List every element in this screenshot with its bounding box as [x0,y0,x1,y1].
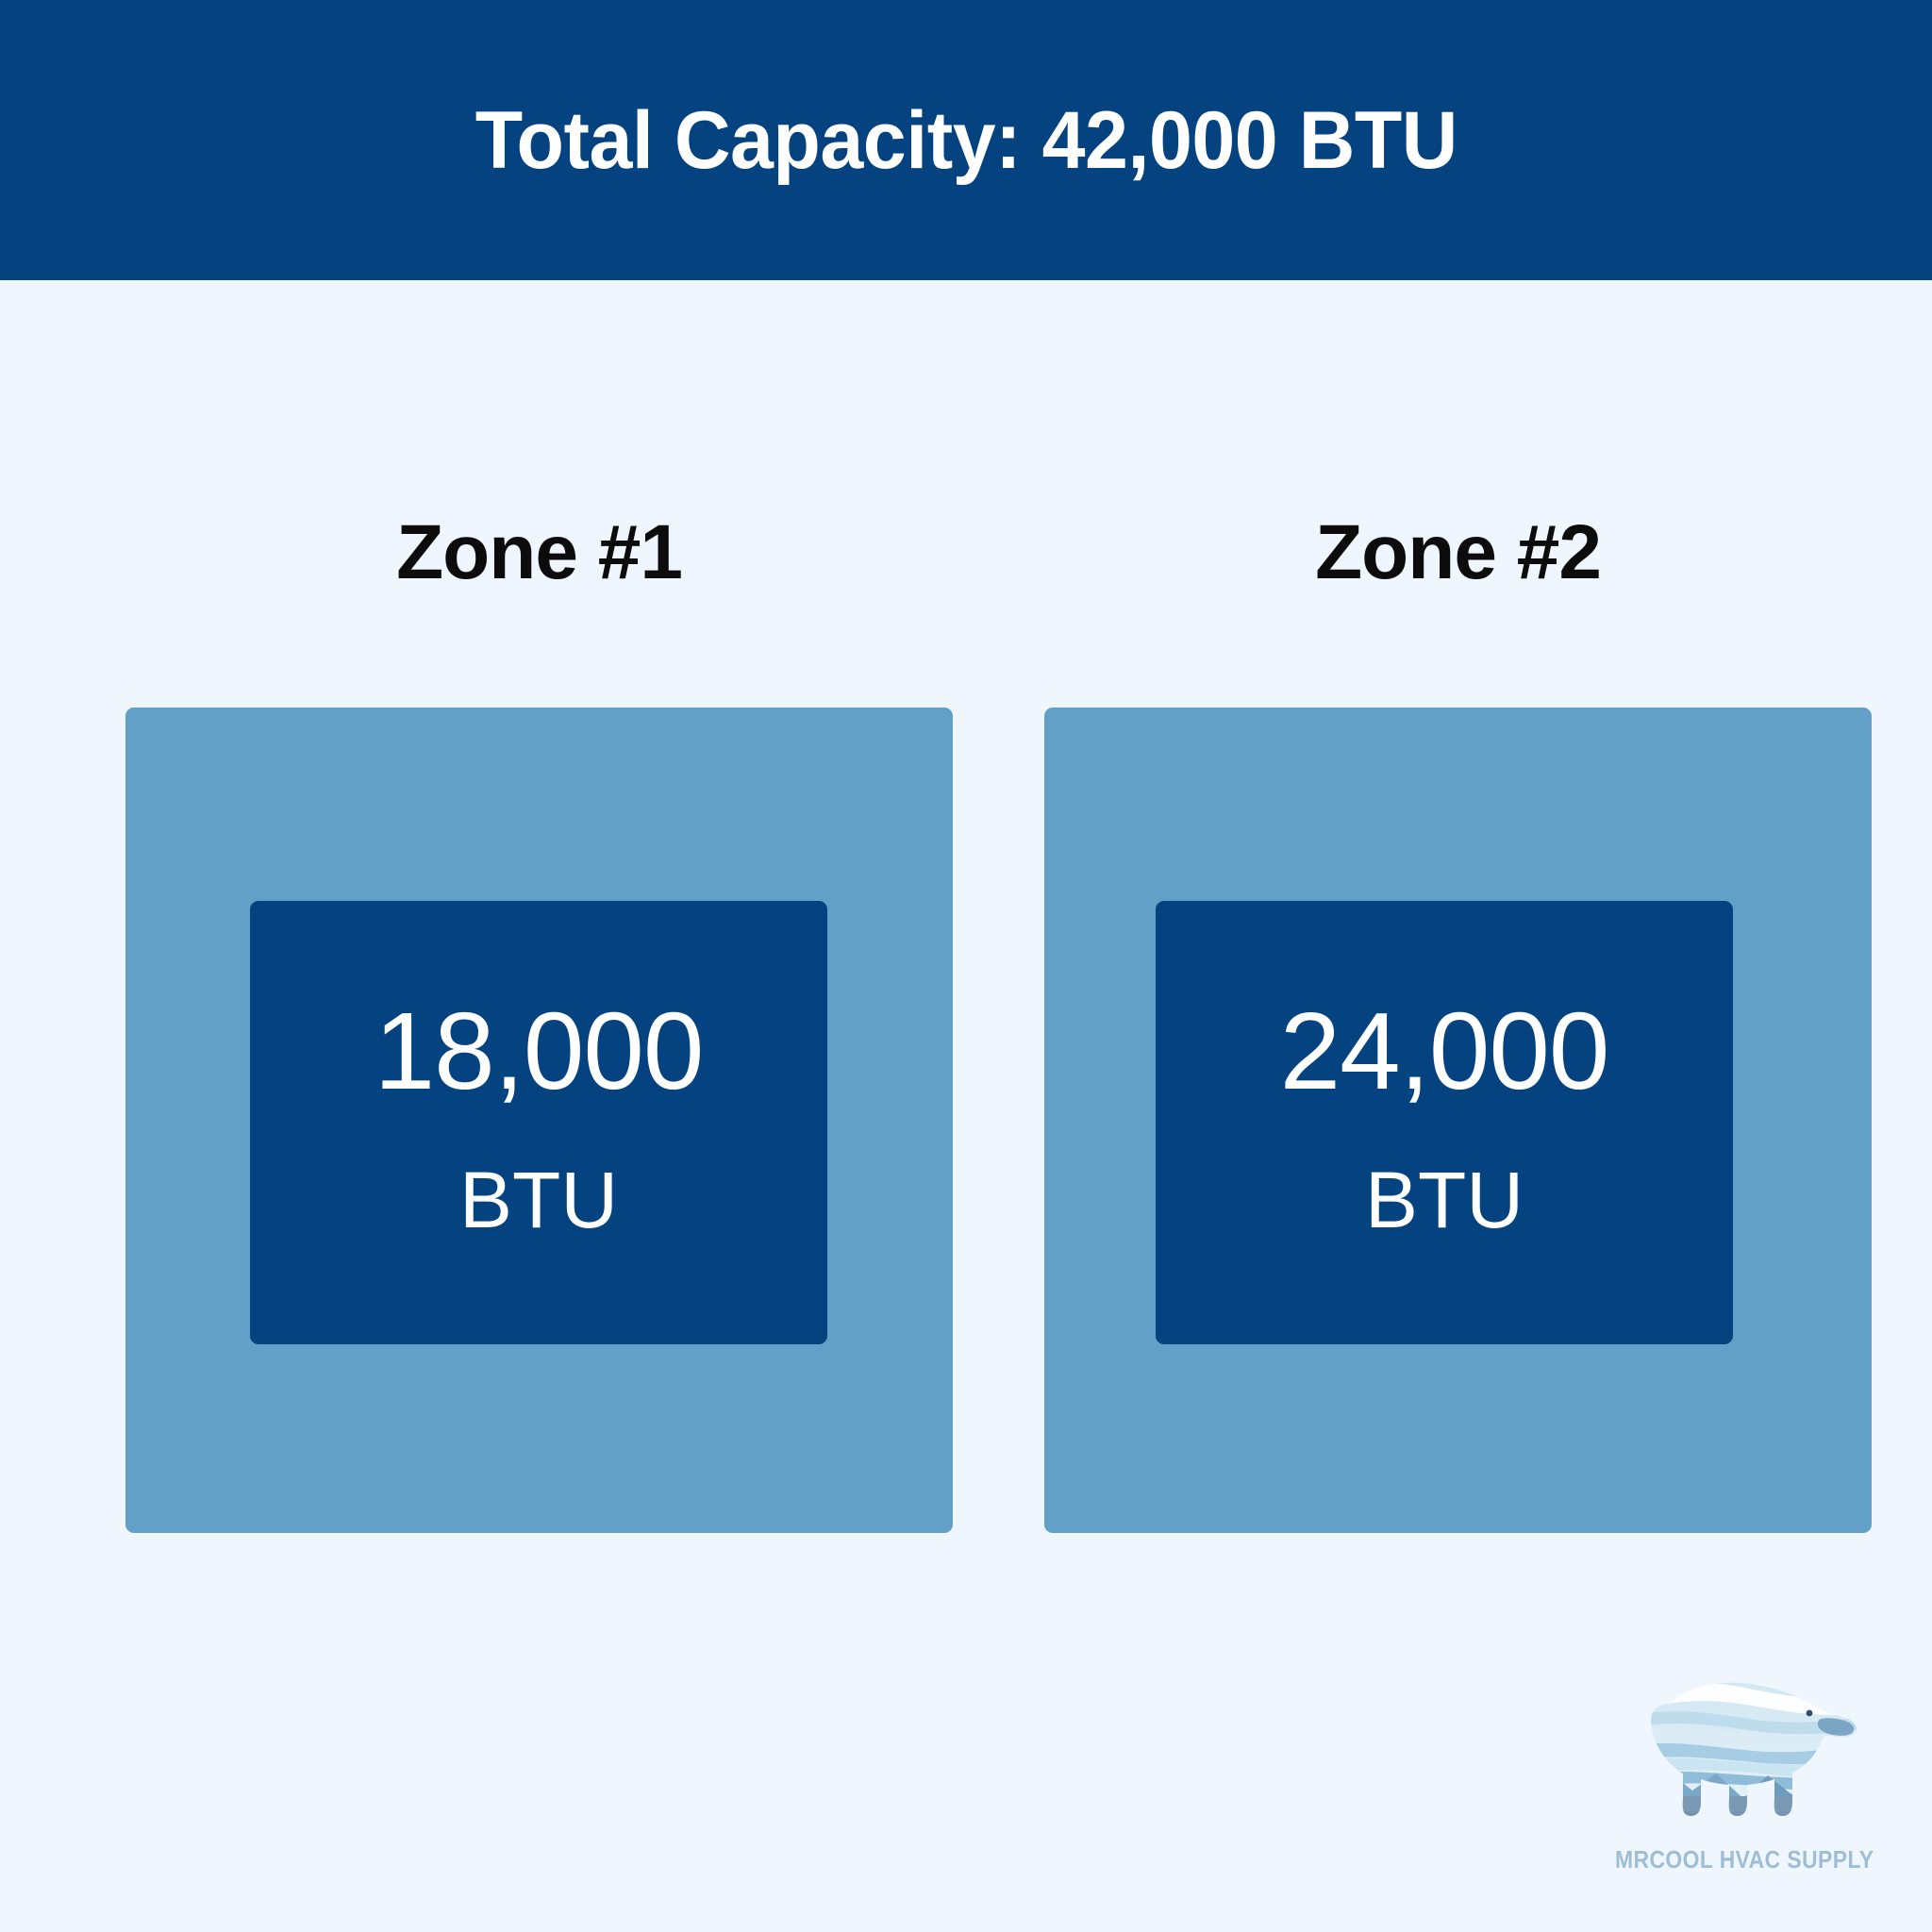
header-banner: Total Capacity: 42,000 BTU [0,0,1932,280]
zone-capacity-unit-1: BTU [459,1160,618,1240]
zone-label-1: Zone #1 [125,514,953,591]
polar-bear-logo-icon [1598,1670,1881,1840]
zone-capacity-value-2: 24,000 [1280,996,1609,1106]
brand-logo: MRCOOL HVAC SUPPLY [1598,1670,1881,1889]
zone-capacity-value-1: 18,000 [375,996,704,1106]
zone-capacity-badge-2[interactable]: 24,000 BTU [1156,901,1733,1344]
zone-label-2: Zone #2 [1044,514,1872,591]
brand-logo-text: MRCOOL HVAC SUPPLY [1615,1845,1864,1874]
zone-capacity-badge-1[interactable]: 18,000 BTU [250,901,827,1344]
page-title: Total Capacity: 42,000 BTU [475,100,1457,181]
zone-capacity-unit-2: BTU [1365,1160,1524,1240]
